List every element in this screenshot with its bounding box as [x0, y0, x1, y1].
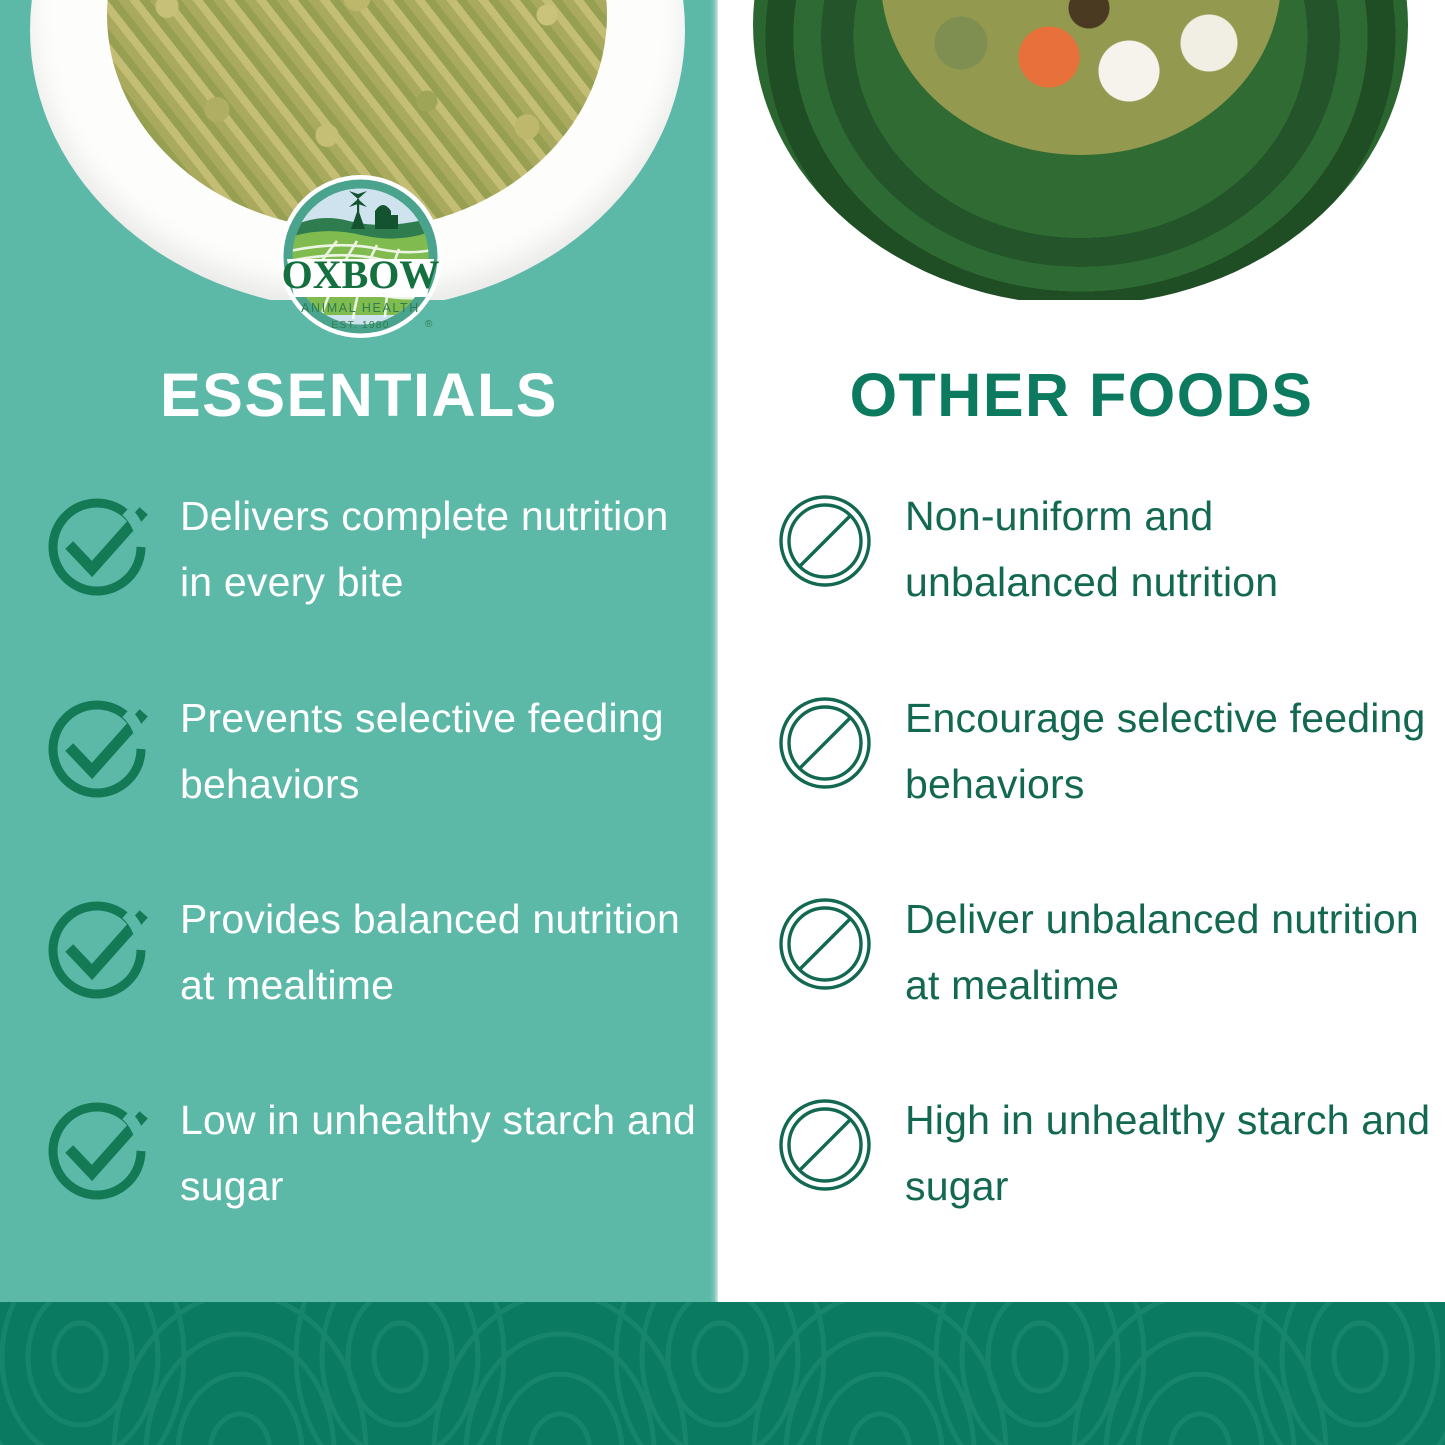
list-item-label: Delivers complete nutrition in every bit… — [180, 483, 702, 616]
list-item-label: Deliver unbalanced nutrition at mealtime — [905, 886, 1433, 1019]
footer-pattern-band — [0, 1302, 1445, 1445]
list-item: Provides balanced nutrition at mealtime — [42, 886, 702, 1019]
column-divider — [710, 0, 718, 1302]
prohibition-icon — [773, 892, 877, 1001]
list-item-label: Non-uniform and unbalanced nutrition — [905, 483, 1433, 616]
list-item-label: Encourage selective feeding behaviors — [905, 685, 1433, 818]
logo-established: EST. 1980 — [331, 319, 389, 331]
list-item: Low in unhealthy starch and sugar — [42, 1087, 702, 1220]
list-item: High in unhealthy starch and sugar — [773, 1087, 1433, 1220]
hero-images — [0, 0, 1445, 300]
list-item-label: Low in unhealthy starch and sugar — [180, 1087, 702, 1220]
check-circle-icon — [42, 489, 152, 604]
logo-tagline: ANIMAL HEALTH — [301, 301, 420, 315]
logo-wordmark: OXBOW — [282, 252, 440, 297]
comparison-infographic: OXBOW ANIMAL HEALTH EST. 1980 ® ESSENTIA… — [0, 0, 1445, 1445]
check-circle-icon — [42, 1093, 152, 1208]
registered-mark-icon: ® — [425, 319, 433, 330]
list-item-label: High in unhealthy starch and sugar — [905, 1087, 1433, 1220]
prohibition-icon — [773, 489, 877, 598]
list-item-label: Prevents selective feeding behaviors — [180, 685, 702, 818]
green-bowl — [753, 0, 1408, 300]
other-foods-bowl-image — [718, 0, 1445, 300]
list-item: Non-uniform and unbalanced nutrition — [773, 483, 1433, 616]
check-circle-icon — [42, 691, 152, 806]
list-item: Prevents selective feeding behaviors — [42, 685, 702, 818]
prohibition-icon — [773, 1093, 877, 1202]
check-circle-icon — [42, 892, 152, 1007]
list-item-label: Provides balanced nutrition at mealtime — [180, 886, 702, 1019]
other-foods-heading: OTHER FOODS — [718, 355, 1445, 435]
list-item: Encourage selective feeding behaviors — [773, 685, 1433, 818]
list-item: Deliver unbalanced nutrition at mealtime — [773, 886, 1433, 1019]
list-item: Delivers complete nutrition in every bit… — [42, 483, 702, 616]
essentials-heading: ESSENTIALS — [0, 355, 718, 435]
prohibition-icon — [773, 691, 877, 800]
mixed-food — [881, 0, 1281, 155]
concentric-circles-pattern — [0, 1302, 1445, 1445]
column-headings: ESSENTIALS OTHER FOODS — [0, 355, 1445, 435]
oxbow-logo: OXBOW ANIMAL HEALTH EST. 1980 ® — [279, 175, 442, 338]
